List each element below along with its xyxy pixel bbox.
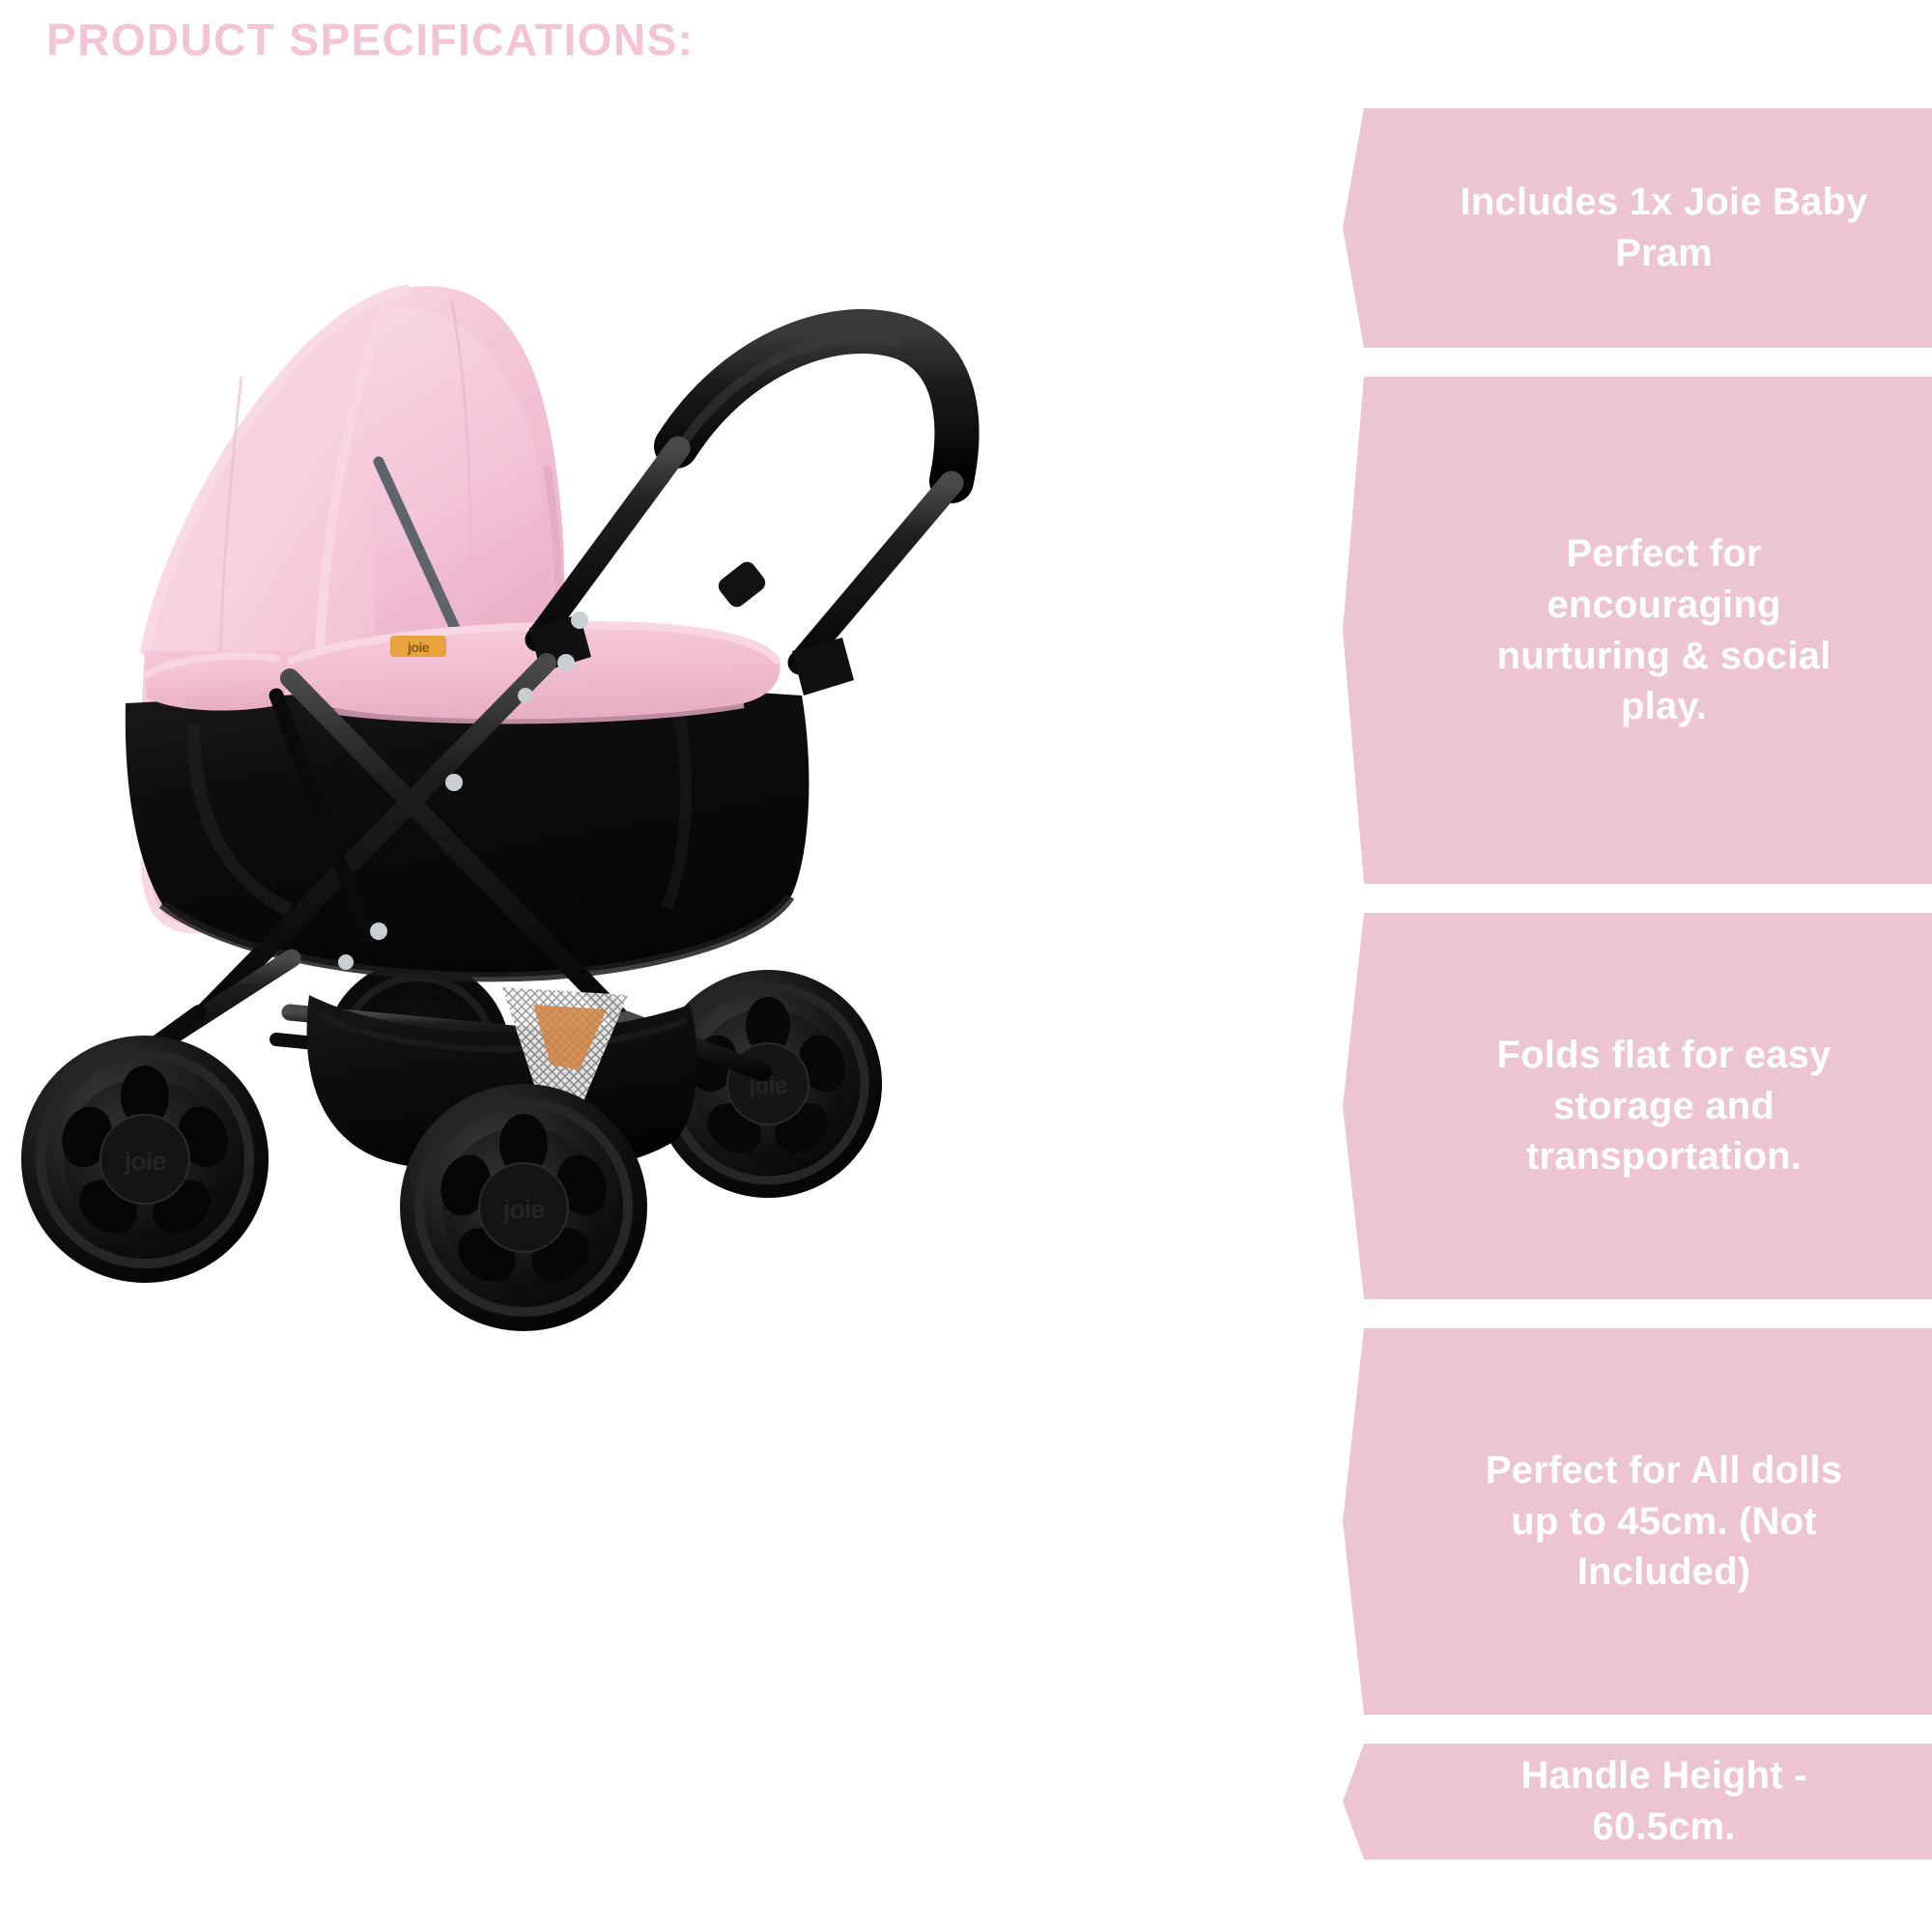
banner-doll-size: Perfect for All dolls up to 45cm. (Not I… <box>1343 1328 1932 1715</box>
wheel-front-left: joie <box>21 1036 269 1283</box>
banner-text: Perfect for encouraging nurturing & soci… <box>1457 528 1872 732</box>
banner-text: Includes 1x Joie Baby Pram <box>1457 177 1872 279</box>
wheel-hub-logo: joie <box>124 1147 166 1176</box>
banner-nurturing: Perfect for encouraging nurturing & soci… <box>1343 377 1932 884</box>
banner-text: Handle Height - 60.5cm. <box>1457 1750 1872 1853</box>
product-image-pram: joie <box>0 241 1024 1594</box>
wheel-hub-logo: joie <box>502 1195 545 1224</box>
spec-banner-list: Includes 1x Joie Baby PramPerfect for en… <box>1343 0 1932 1932</box>
wheel-front-right: joie <box>400 1084 647 1331</box>
banner-folds-flat: Folds flat for easy storage and transpor… <box>1343 913 1932 1299</box>
banner-includes: Includes 1x Joie Baby Pram <box>1343 108 1932 348</box>
svg-text:joie: joie <box>407 639 430 655</box>
banner-text: Perfect for All dolls up to 45cm. (Not I… <box>1457 1445 1872 1598</box>
banner-handle-height: Handle Height - 60.5cm. <box>1343 1744 1932 1860</box>
banner-text: Folds flat for easy storage and transpor… <box>1457 1030 1872 1182</box>
page-title: PRODUCT SPECIFICATIONS: <box>46 14 694 66</box>
